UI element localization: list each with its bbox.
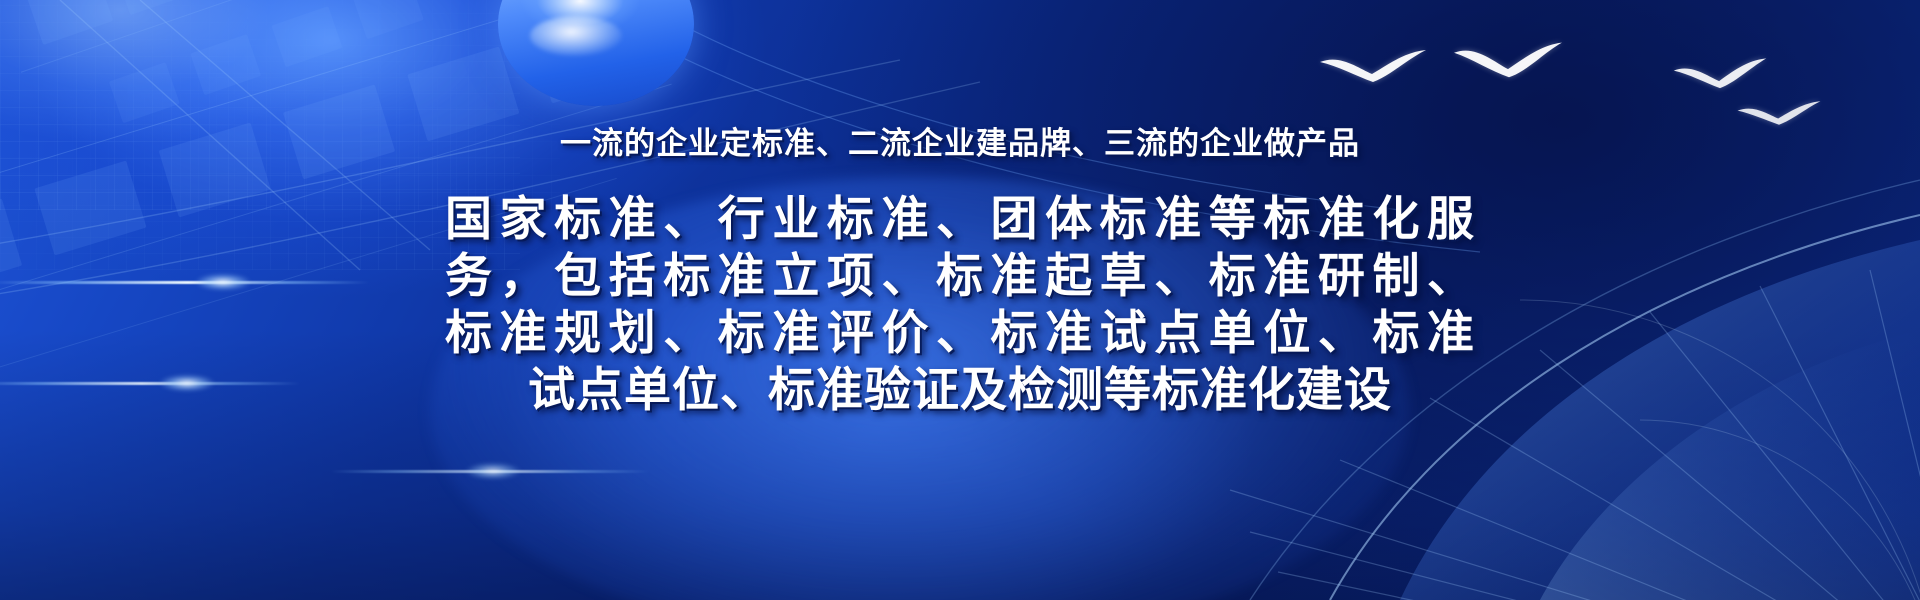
promo-banner: 一流的企业定标准、二流企业建品牌、三流的企业做产品 国家标准、行业标准、团体标准… (0, 0, 1920, 600)
sphere-highlight (530, 16, 622, 56)
grid-texture-bottom-left (0, 0, 560, 210)
seagull-icon (1452, 42, 1564, 86)
banner-headline: 一流的企业定标准、二流企业建品牌、三流的企业做产品 (0, 118, 1920, 163)
seagull-icon (1318, 48, 1428, 90)
body-line: 务，包括标准立项、标准起草、标准研制、 (445, 247, 1475, 304)
seagull-icon (1672, 56, 1768, 94)
lens-flare-core-2 (160, 375, 214, 391)
lens-flare-streak-2 (0, 382, 300, 385)
body-line: 试点单位、标准验证及检测等标准化建设 (445, 361, 1475, 418)
lens-flare-core-1 (196, 274, 250, 290)
body-line: 标准规划、标准评价、标准试点单位、标准 (445, 304, 1475, 361)
banner-body-text: 国家标准、行业标准、团体标准等标准化服 务，包括标准立项、标准起草、标准研制、 … (445, 190, 1475, 418)
body-line: 国家标准、行业标准、团体标准等标准化服 (445, 190, 1475, 247)
lens-flare-streak-1 (0, 281, 370, 284)
lens-flare-core-3 (466, 463, 520, 479)
